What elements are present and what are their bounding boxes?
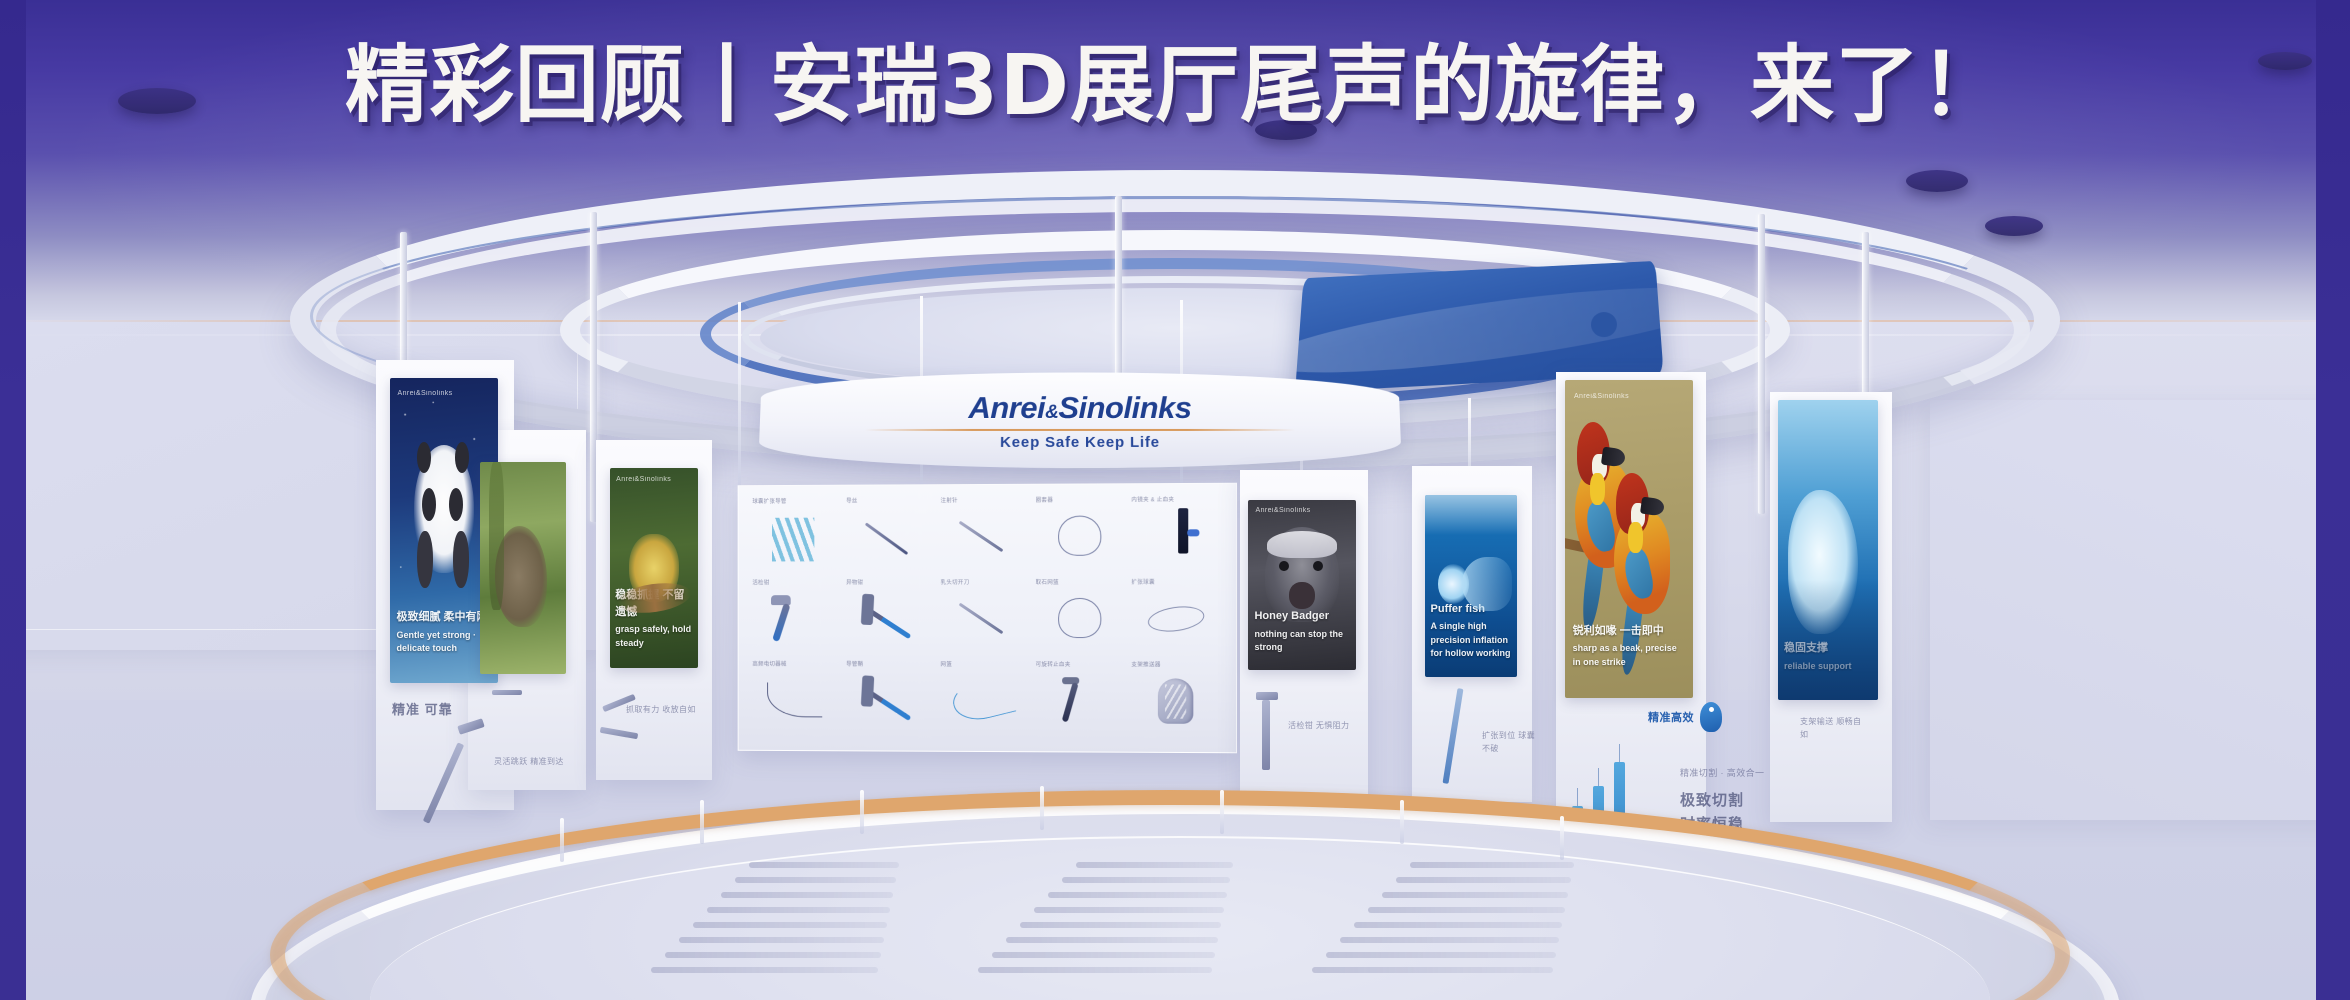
product-cell-label: 乳头切开刀 — [941, 578, 970, 586]
product-cell: 网篮 — [939, 659, 1032, 739]
hanging-rod — [738, 302, 741, 492]
product-device-icon — [864, 606, 912, 640]
badger-eye-icon — [1279, 561, 1289, 571]
product-device-icon — [1147, 603, 1206, 635]
product-device-icon — [959, 603, 1004, 635]
product-cell-label: 注射针 — [941, 496, 958, 504]
poster-subline: reliable support — [1784, 661, 1852, 671]
product-device-icon — [864, 688, 912, 722]
brand-logo-band: Anrei&Sinolinks Keep Safe Keep Life — [758, 373, 1402, 468]
product-sketch — [492, 690, 522, 695]
panda-ear-icon — [455, 442, 469, 473]
product-cell-label: 导管鞘 — [846, 660, 863, 668]
stage-baluster — [700, 800, 704, 844]
poster-puffer-fish: Puffer fish A single high precision infl… — [1425, 495, 1517, 677]
product-cell: 高频电切器械 — [750, 659, 842, 739]
poster-caption: 锐利如喙 一击即中 sharp as a beak, precise in on… — [1573, 623, 1686, 670]
product-sketch — [1256, 692, 1278, 700]
product-cell: 扩张球囊 — [1129, 577, 1223, 658]
product-cell-label: 导丝 — [846, 497, 857, 505]
product-cell-label: 支架推送器 — [1131, 660, 1160, 668]
product-cell: 内镜夹 & 止血夹 — [1129, 494, 1223, 575]
poster-subline: A single high precision inflation for ho… — [1431, 621, 1511, 658]
right-edge-strip — [2316, 0, 2350, 1000]
product-cell-label: 圈套器 — [1036, 496, 1053, 504]
brand-tagline: Keep Safe Keep Life — [1000, 433, 1160, 450]
page-title: 精彩回顾丨安瑞3D展厅尾声的旋律，来了！ — [345, 43, 2005, 127]
stage-baluster — [1400, 800, 1404, 844]
poster-brandmark: Anrei&Sinolinks — [398, 390, 453, 397]
panda-ear-icon — [417, 442, 431, 473]
info-panel-headline-1: 极致切割 — [1680, 790, 1744, 813]
product-device-icon — [1058, 598, 1101, 638]
poster-subline: Gentle yet strong · delicate touch — [396, 630, 476, 654]
left-edge-strip — [0, 0, 26, 1000]
product-cell: 注射针 — [939, 495, 1032, 575]
bird-throat-icon — [1590, 473, 1605, 505]
board-subcaption-left-2: 灵活跳跃 精准到达 — [494, 756, 590, 769]
poster-snow-scene: 稳固支撑 reliable support — [1778, 400, 1878, 700]
board-subcaption-right-4: 支架输送 顺畅自如 — [1800, 716, 1866, 742]
stage-baluster — [1220, 790, 1224, 834]
poster-brandmark: Anrei&Sinolinks — [616, 476, 671, 483]
product-cell: 取石网篮 — [1034, 577, 1128, 657]
product-device-icon — [950, 675, 1017, 727]
brand-logo-rule — [865, 428, 1296, 430]
poster-caption: 稳固支撑 reliable support — [1784, 640, 1872, 673]
product-cell-label: 球囊扩张导管 — [752, 497, 786, 505]
support-post — [1758, 214, 1765, 514]
poster-brandmark: Anrei&Sinolinks — [1256, 507, 1311, 514]
poster-headline: 锐利如喙 一击即中 — [1573, 623, 1686, 640]
board-subcaption-right-1: 活检钳 无惧阻力 — [1288, 720, 1362, 733]
poster-headline: Puffer fish — [1431, 601, 1512, 618]
product-display-wall: 球囊扩张导管导丝注射针圈套器内镜夹 & 止血夹活检钳异物钳乳头切开刀取石网篮扩张… — [738, 483, 1237, 754]
product-cell-label: 取石网篮 — [1036, 578, 1059, 586]
product-cell: 支架推送器 — [1129, 659, 1223, 740]
poster-caption: 稳稳抓握 不留遗憾 grasp safely, hold steady — [615, 587, 692, 650]
product-cell-label: 高频电切器械 — [752, 660, 786, 668]
poster-headline: Honey Badger — [1254, 608, 1349, 625]
panda-arm-icon — [453, 531, 469, 589]
product-device-icon — [865, 522, 909, 555]
stage-baluster — [860, 790, 864, 834]
product-device-icon — [767, 682, 822, 717]
bird-throat-icon — [1628, 522, 1643, 553]
panda-arm-icon — [417, 531, 433, 589]
poster-honey-badger: Anrei&Sinolinks Honey Badger nothing can… — [1248, 500, 1356, 670]
badger-stripe-icon — [1267, 531, 1336, 558]
product-device-icon — [959, 521, 1004, 553]
product-sketch — [1262, 700, 1270, 770]
bird-beak-icon — [1640, 496, 1665, 516]
product-cell-label: 可旋转止血夹 — [1036, 660, 1071, 668]
product-cell-label: 扩张球囊 — [1131, 578, 1154, 586]
board-subcaption-left-3: 抓取有力 收放自如 — [626, 704, 718, 717]
product-cell: 圈套器 — [1034, 494, 1128, 575]
info-panel-brand-text: 精准高效 — [1648, 709, 1694, 725]
product-cell: 导丝 — [844, 495, 936, 575]
product-cell: 活检钳 — [750, 577, 842, 657]
product-cell: 可旋转止血夹 — [1034, 659, 1128, 740]
brand-logo-primary: Anrei — [968, 390, 1045, 425]
board-caption-left-1: 精准 可靠 — [392, 700, 462, 720]
stage-baluster — [1040, 786, 1044, 830]
info-panel-logo: 精准高效 — [1648, 700, 1768, 734]
stage-baluster — [560, 818, 564, 862]
badger-snout-icon — [1289, 582, 1315, 609]
poster-caption: 极致细腻 柔中有刚 Gentle yet strong · delicate t… — [396, 609, 491, 656]
product-device-icon — [1178, 509, 1187, 554]
poster-subline: nothing can stop the strong — [1254, 629, 1343, 653]
poster-headline: 稳固支撑 — [1784, 640, 1872, 657]
product-cell: 球囊扩张导管 — [750, 496, 842, 576]
info-panel-subtitle: 精准切割 · 高效合一 — [1680, 766, 1780, 780]
poster-frog: Anrei&Sinolinks 稳稳抓握 不留遗憾 grasp safely, … — [610, 468, 698, 668]
product-cell-label: 网篮 — [941, 660, 953, 668]
product-cell-label: 活检钳 — [752, 578, 769, 586]
badger-eye-icon — [1313, 561, 1323, 571]
product-cell: 乳头切开刀 — [939, 577, 1032, 657]
board-subcaption-right-2: 扩张到位 球囊不破 — [1482, 730, 1542, 756]
poster-subline: grasp safely, hold steady — [615, 624, 691, 648]
product-cell-label: 异物钳 — [846, 578, 863, 586]
bird-beak-icon — [1601, 446, 1626, 467]
product-device-icon — [1060, 677, 1101, 724]
poster-subline: sharp as a beak, precise in one strike — [1573, 643, 1677, 667]
brand-logo-amp: & — [1045, 402, 1058, 423]
brand-logo-secondary: Sinolinks — [1058, 390, 1191, 425]
brand-logo-text: Anrei&Sinolinks — [968, 390, 1191, 426]
poster-kangaroo — [480, 462, 566, 674]
product-device-icon — [771, 595, 819, 641]
water-surface-icon — [1425, 495, 1517, 535]
poster-brandmark: Anrei&Sinolinks — [1574, 393, 1629, 400]
product-grid: 球囊扩张导管导丝注射针圈套器内镜夹 & 止血夹活检钳异物钳乳头切开刀取石网篮扩张… — [750, 494, 1223, 740]
product-device-icon — [1058, 515, 1101, 555]
product-device-icon — [1158, 679, 1194, 724]
poster-headline: 稳稳抓握 不留遗憾 — [615, 587, 692, 620]
info-mark-icon — [1700, 702, 1722, 732]
product-cell: 导管鞘 — [844, 659, 936, 739]
poster-headline: 极致细腻 柔中有刚 — [396, 609, 491, 626]
product-device-icon — [772, 518, 814, 561]
product-cell-label: 内镜夹 & 止血夹 — [1131, 495, 1174, 503]
product-cell: 异物钳 — [844, 577, 936, 657]
exhibition-hall-scene: Anrei&Sinolinks Keep Safe Keep Life Anre… — [0, 0, 2350, 1000]
poster-caption: Puffer fish A single high precision infl… — [1431, 601, 1512, 661]
poster-caption: Honey Badger nothing can stop the strong — [1254, 608, 1349, 655]
poster-bee-eaters: Anrei&Sinolinks 锐利如喙 一击即中 sharp as a bea… — [1565, 380, 1693, 698]
stage-baluster — [1560, 816, 1564, 860]
